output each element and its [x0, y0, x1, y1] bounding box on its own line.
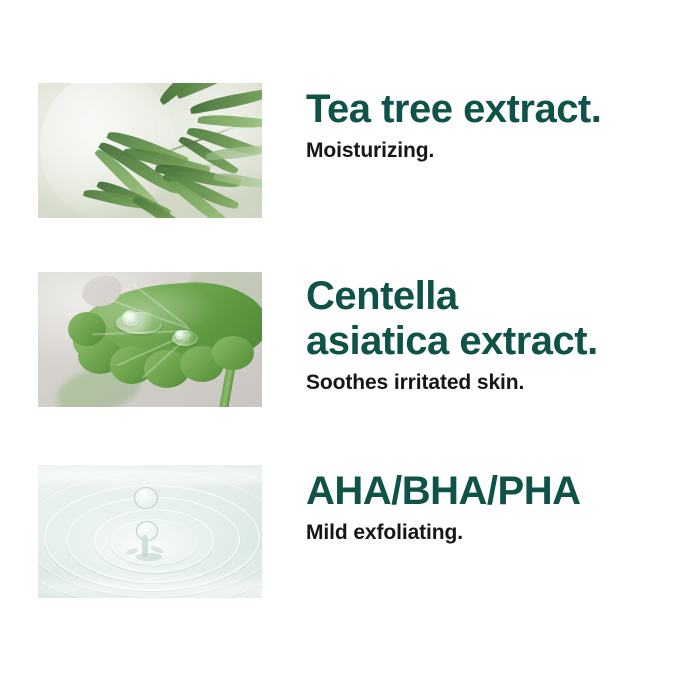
leaf-lobe [68, 312, 106, 346]
splash-crown [136, 553, 162, 561]
feature-title: AHA/BHA/PHA [306, 469, 643, 514]
feature-subtitle: Moisturizing. [306, 138, 643, 164]
feature-text-centella: Centella asiatica extract. Soothes irrit… [306, 272, 643, 396]
water-droplet-highlight [122, 310, 140, 326]
surface-sheen [38, 467, 262, 485]
feature-title: Tea tree extract. [306, 87, 643, 132]
leaf-lobe [212, 336, 254, 370]
feature-row-tea-tree: Tea tree extract. Moisturizing. [38, 83, 643, 218]
ingredient-benefits-panel: Tea tree extract. Moisturizing. [0, 0, 679, 679]
tea-tree-leaves-photo [38, 83, 262, 218]
water-droplet-ripple-photo [38, 465, 262, 598]
feature-text-acids: AHA/BHA/PHA Mild exfoliating. [306, 465, 643, 546]
feature-row-centella: Centella asiatica extract. Soothes irrit… [38, 272, 643, 407]
falling-water-droplet [134, 487, 158, 509]
surface-sheen [38, 577, 262, 598]
feature-row-acids: AHA/BHA/PHA Mild exfoliating. [38, 465, 643, 598]
feature-text-tea-tree: Tea tree extract. Moisturizing. [306, 83, 643, 164]
centella-leaf-droplets-photo [38, 272, 262, 407]
water-droplet-highlight [175, 330, 186, 340]
feature-title: Centella asiatica extract. [306, 274, 643, 364]
feature-subtitle: Soothes irritated skin. [306, 370, 643, 396]
feature-subtitle: Mild exfoliating. [306, 520, 643, 546]
